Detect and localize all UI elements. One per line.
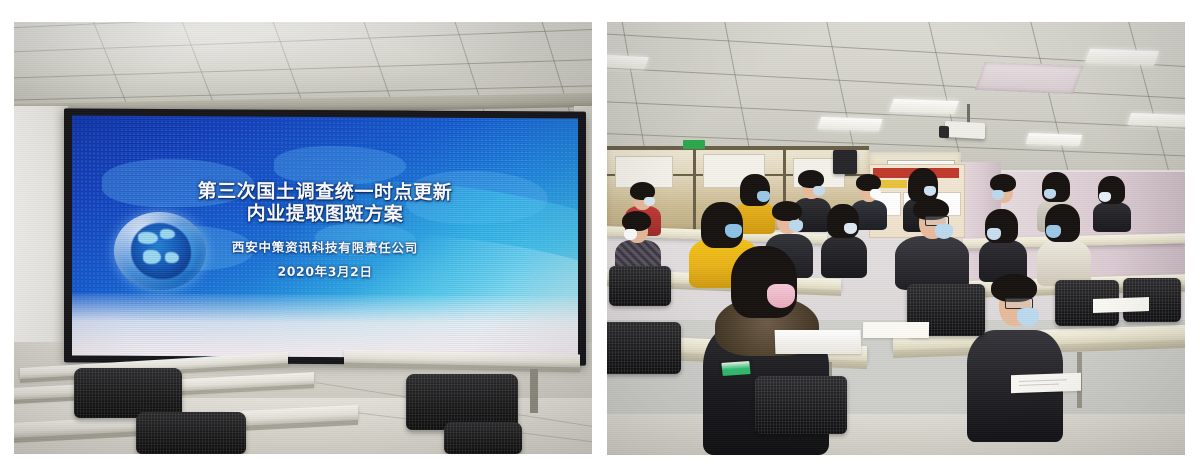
- wall-speaker: [833, 150, 857, 174]
- led-screen-panel: 第三次国土调查统一时点更新 内业提取图斑方案 西安中策资讯科技有限责任公司 20…: [72, 115, 578, 358]
- right-photo-audience: [607, 22, 1185, 455]
- handout-right-desk: [1093, 297, 1149, 313]
- chair-right-lower: [444, 422, 522, 454]
- left-photo-meeting-room: 第三次国土调查统一时点更新 内业提取图斑方案 西安中策资讯科技有限责任公司 20…: [14, 22, 592, 454]
- ceiling-light-panel: [607, 55, 649, 69]
- chair-left-front: [74, 368, 182, 418]
- face-mask-pink: [767, 284, 795, 308]
- ceiling-light-panel: [1085, 49, 1159, 65]
- ceiling-light-panel: [1127, 113, 1185, 127]
- chair-left-lower: [136, 412, 246, 454]
- handout-on-desk: [863, 322, 929, 338]
- ceiling-light-panel: [889, 99, 959, 114]
- led-scanline-overlay: [72, 115, 578, 358]
- handout-front-right: [1011, 373, 1081, 393]
- ceiling-light-panel: [1026, 133, 1083, 146]
- projector-lens: [939, 126, 949, 139]
- attendee-mid-5-glasses: [895, 194, 969, 290]
- ceiling-projector: [945, 121, 985, 139]
- ceiling-air-vent: [975, 62, 1084, 94]
- attendee-back-8: [1093, 174, 1131, 232]
- photo-collage-page: 第三次国土调查统一时点更新 内业提取图斑方案 西安中策资讯科技有限责任公司 20…: [0, 0, 1200, 476]
- smartphone-screen: [721, 361, 750, 376]
- led-screen-bezel: 第三次国土调查统一时点更新 内业提取图斑方案 西安中策资讯科技有限责任公司 20…: [64, 108, 586, 365]
- chair-foreground-left: [607, 322, 681, 374]
- exit-sign: [683, 140, 705, 149]
- chair-back-left: [609, 266, 671, 306]
- open-notebook-on-desk: [775, 330, 862, 354]
- glass-frame-horizontal: [607, 146, 869, 150]
- desk-right-leg: [530, 369, 538, 413]
- smartphone-on-desk[interactable]: [718, 359, 754, 378]
- attendee-mid-6: [979, 206, 1027, 282]
- floor-right: [607, 414, 1185, 455]
- chair-foreground-mid: [755, 376, 847, 434]
- ceiling-light-panel: [817, 117, 882, 131]
